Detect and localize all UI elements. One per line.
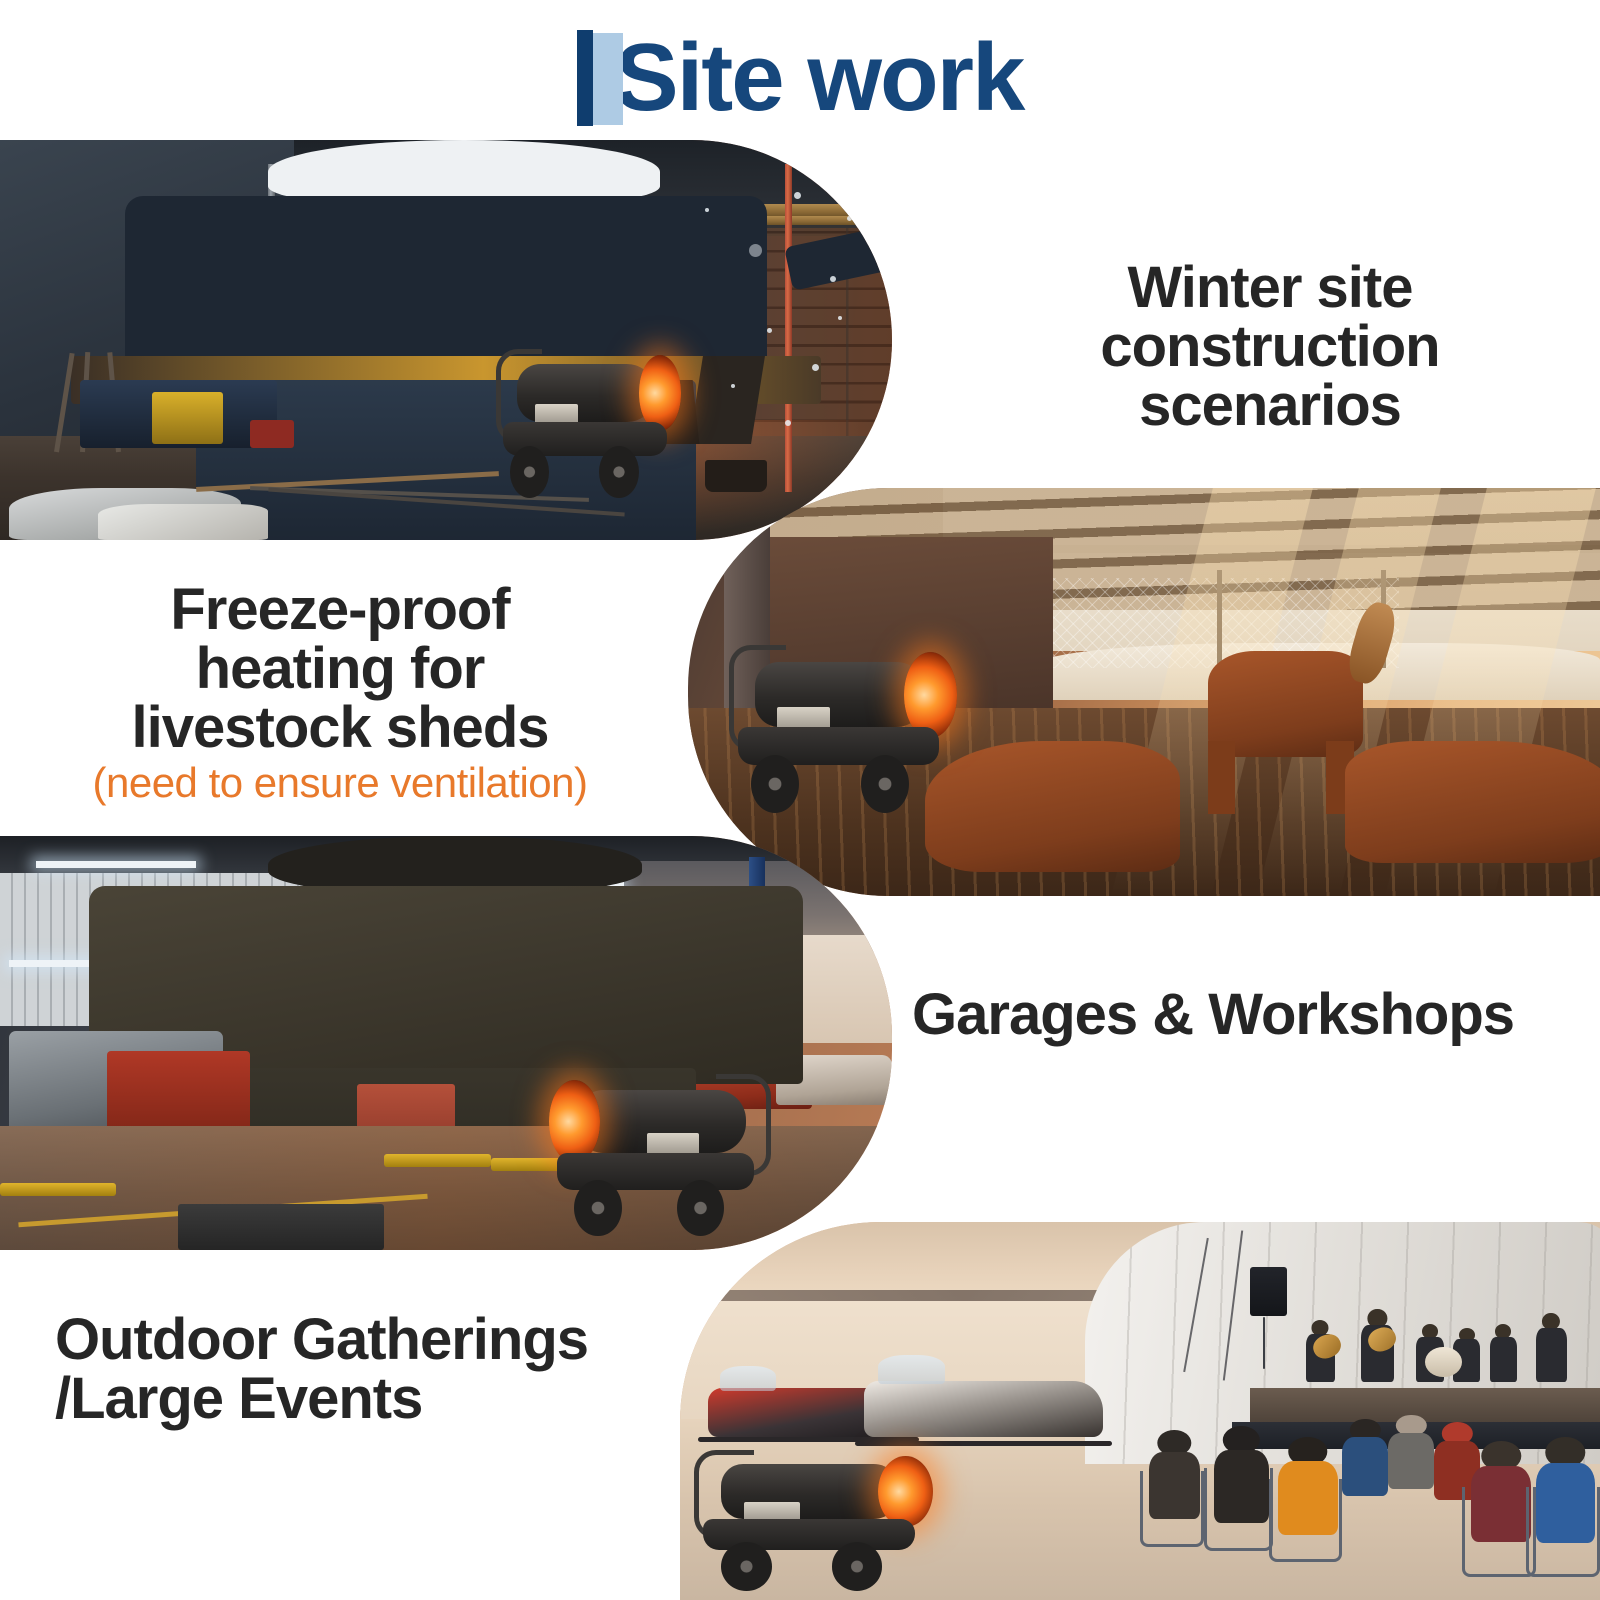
title-accent-bar-icon <box>577 30 623 126</box>
kerosene-heater-icon <box>500 340 678 492</box>
caption-winter-construction: Winter site construction scenarios <box>960 258 1580 435</box>
kerosene-heater-icon <box>734 635 953 806</box>
section-image-outdoor-events <box>680 1222 1600 1600</box>
kerosene-heater-icon <box>698 1441 928 1585</box>
speaker-stand <box>1263 1317 1265 1370</box>
page-header: Site work <box>0 18 1600 138</box>
kerosene-heater-icon <box>553 1064 767 1230</box>
caption-livestock-sheds: Freeze-proof heating for livestock sheds… <box>20 580 660 807</box>
section-image-winter-construction <box>0 140 892 540</box>
caption-outdoor-events: Outdoor Gatherings /Large Events <box>55 1310 695 1428</box>
section-image-livestock-sheds <box>688 488 1600 896</box>
page-title: Site work <box>615 30 1024 126</box>
cow-lying-right-figure <box>1345 741 1600 863</box>
cow-lying-front-figure <box>925 741 1180 872</box>
snowmobile-white <box>864 1381 1103 1438</box>
ventilation-note: (need to ensure ventilation) <box>20 759 660 806</box>
caption-garages-workshops: Garages & Workshops <box>912 985 1592 1044</box>
speaker-left <box>1250 1267 1287 1316</box>
section-image-garages-workshops <box>0 836 892 1250</box>
